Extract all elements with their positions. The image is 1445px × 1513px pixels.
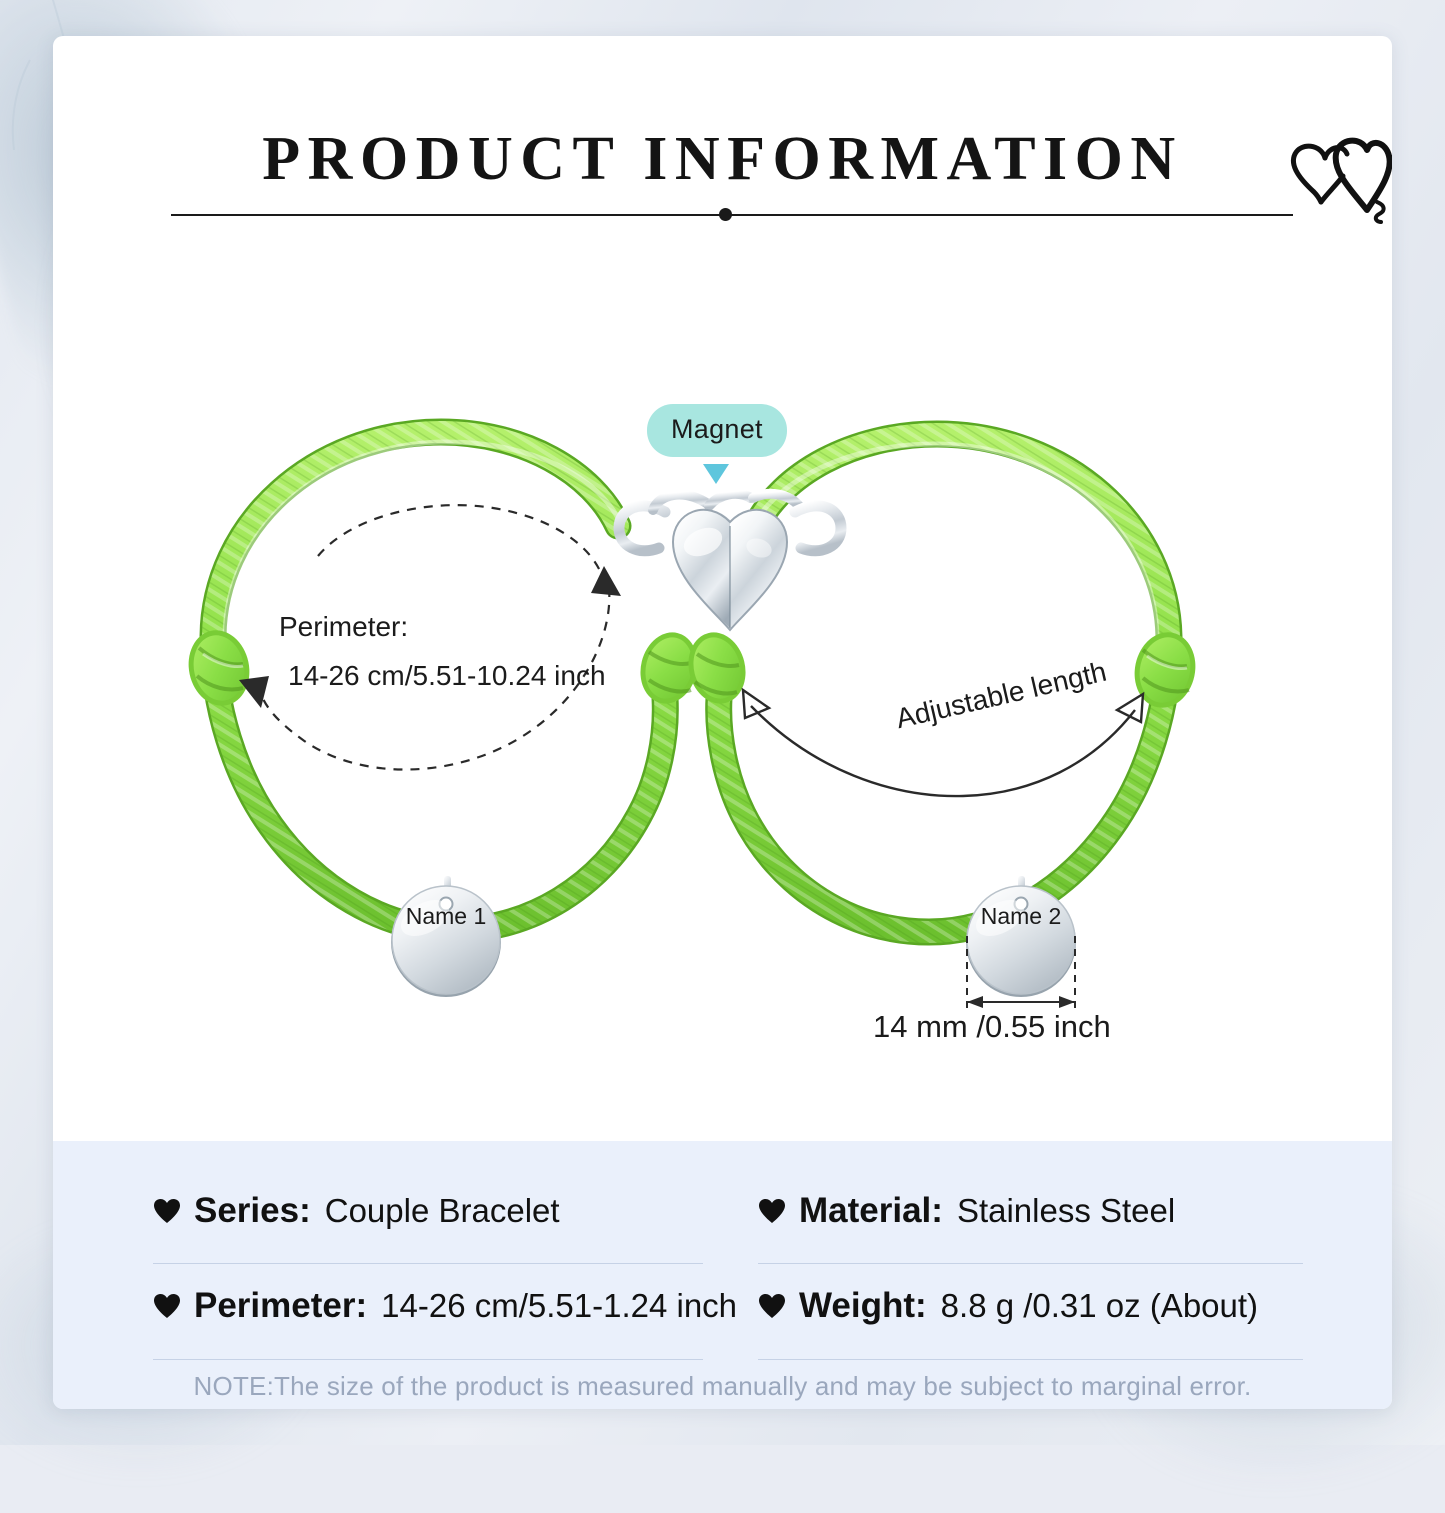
spec-row-material: Material : Stainless Steel [758,1191,1175,1231]
screenshot-root: PRODUCT INFORMATION [0,0,1445,1445]
spec-value-material: Stainless Steel [957,1192,1175,1230]
left-pendant-name-label: Name 1 [386,903,506,930]
perimeter-annotation-line1: Perimeter: [279,611,408,643]
perimeter-arrow-head-top [591,566,621,596]
spec-key-weight: Weight [799,1286,915,1326]
spec-panel: Series : Couple Bracelet Material : Stai… [53,1141,1392,1409]
spec-row-series: Series : Couple Bracelet [153,1191,560,1231]
spec-value-perimeter: 14-26 cm/5.51-1.24 inch [381,1287,737,1325]
bracelet-diagram-svg [53,236,1392,1136]
heart-magnetic-clasp-icon [619,494,841,630]
spec-divider-1 [153,1263,703,1264]
heart-bullet-icon [758,1293,786,1319]
right-cord-knot-icon [1128,627,1202,714]
adjustable-arrow-head-left [743,690,769,718]
spec-divider-3 [153,1359,703,1360]
spec-value-weight: 8.8 g /0.31 oz (About) [941,1287,1258,1325]
spec-sep-weight: : [915,1286,927,1326]
heart-bullet-icon [153,1293,181,1319]
adjustable-arrow-head-right [1117,694,1143,722]
perimeter-annotation-line2: 14-26 cm/5.51-10.24 inch [288,660,606,692]
page-title: PRODUCT INFORMATION [53,124,1392,195]
measurement-note: NOTE:The size of the product is measured… [53,1371,1392,1402]
disc-dimension-label: 14 mm /0.55 inch [873,1009,1111,1045]
left-cord-knot-icon [182,625,256,712]
product-info-card: PRODUCT INFORMATION [53,36,1392,1409]
spec-divider-2 [758,1263,1303,1264]
spec-sep-perimeter: : [355,1286,367,1326]
right-center-knot-icon [681,626,753,709]
header-divider [171,214,1293,216]
spec-value-series: Couple Bracelet [325,1192,560,1230]
spec-key-material: Material [799,1191,931,1231]
spec-sep-material: : [931,1191,943,1231]
spec-key-series: Series [194,1191,299,1231]
magnet-label-badge: Magnet [647,404,787,457]
down-triangle-pointer-icon [701,462,731,486]
spec-row-perimeter: Perimeter : 14-26 cm/5.51-1.24 inch [153,1286,737,1326]
divider-dot-icon [719,208,732,221]
product-illustration: Magnet Perimeter: 14-26 cm/5.51-10.24 in… [53,236,1392,1136]
spec-sep-series: : [299,1191,311,1231]
spec-divider-4 [758,1359,1303,1360]
heart-bullet-icon [153,1198,181,1224]
heart-bullet-icon [758,1198,786,1224]
spec-row-weight: Weight : 8.8 g /0.31 oz (About) [758,1286,1258,1326]
right-pendant-name-label: Name 2 [961,903,1081,930]
double-heart-doodle-icon [1281,128,1392,228]
left-pendant [391,876,501,997]
spec-key-perimeter: Perimeter [194,1286,355,1326]
